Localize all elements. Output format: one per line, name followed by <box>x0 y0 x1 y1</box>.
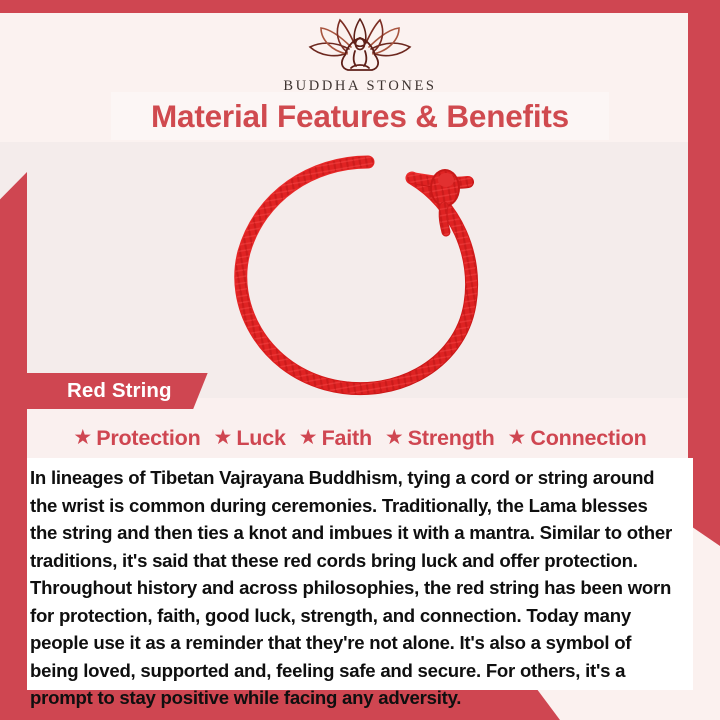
star-icon: ★ <box>214 427 233 448</box>
feature-item-faith: ★ Faith <box>294 426 377 451</box>
product-image <box>216 152 516 400</box>
feature-item-protection: ★ Protection <box>68 426 205 451</box>
feature-label: Connection <box>530 426 646 451</box>
feature-label: Protection <box>96 426 200 451</box>
star-icon: ★ <box>299 427 318 448</box>
product-name-label: Red String <box>67 379 172 403</box>
star-icon: ★ <box>508 427 527 448</box>
feature-item-strength: ★ Strength <box>380 426 500 451</box>
title-banner: Material Features & Benefits <box>111 92 609 140</box>
feature-label: Strength <box>408 426 495 451</box>
frame-bar-top <box>0 0 720 13</box>
star-icon: ★ <box>73 427 92 448</box>
description-panel: In lineages of Tibetan Vajrayana Buddhis… <box>27 458 693 690</box>
feature-label: Luck <box>236 426 285 451</box>
page-title: Material Features & Benefits <box>151 98 569 135</box>
feature-item-luck: ★ Luck <box>209 426 291 451</box>
lotus-meditation-figure-icon <box>301 16 419 74</box>
star-icon: ★ <box>385 427 404 448</box>
feature-label: Faith <box>322 426 372 451</box>
red-string-braided-bracelet-image <box>216 152 516 400</box>
description-text: In lineages of Tibetan Vajrayana Buddhis… <box>30 464 675 712</box>
poster-root: BUDDHA STONES Material Features & Benefi… <box>0 0 720 720</box>
feature-list: ★ Protection ★ Luck ★ Faith ★ Strength ★… <box>27 420 693 456</box>
feature-item-connection: ★ Connection <box>503 426 652 451</box>
brand-logo: BUDDHA STONES <box>0 16 720 95</box>
product-name-ribbon: Red String <box>27 373 208 409</box>
frame-bar-left <box>0 172 27 720</box>
